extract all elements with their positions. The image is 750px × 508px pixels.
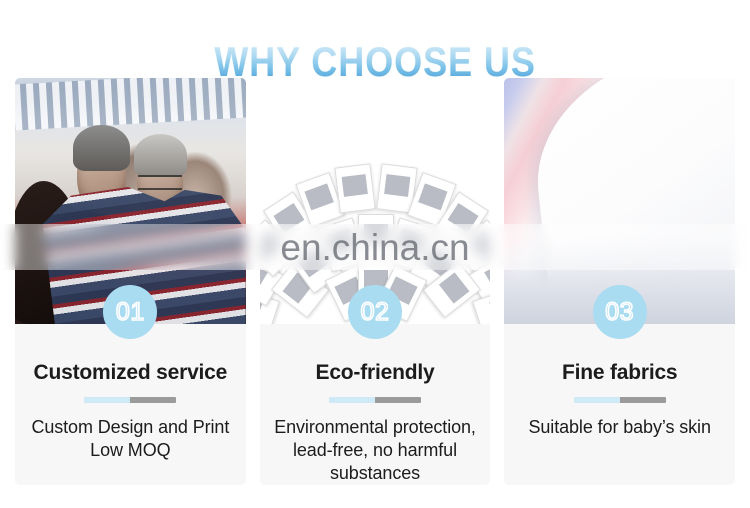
card-divider	[574, 397, 666, 403]
card-body: Fine fabrics Suitable for baby’s skin	[504, 324, 735, 485]
card-divider	[84, 397, 176, 403]
card-description: Suitable for baby’s skin	[528, 416, 710, 439]
card-body: Eco-friendly Environmental protection, l…	[260, 324, 491, 485]
feature-card-eco-friendly[interactable]: 02 Eco-friendly Environmental protection…	[260, 78, 491, 485]
card-number-badge-02: 02	[348, 285, 402, 339]
feature-cards-row: 01 Customized service Custom Design and …	[15, 78, 735, 485]
feature-card-fine-fabrics[interactable]: 03 Fine fabrics Suitable for baby’s skin	[504, 78, 735, 485]
card-number-badge-01: 01	[103, 285, 157, 339]
card-description: Custom Design and Print Low MOQ	[25, 416, 236, 462]
card-description: Environmental protection, lead-free, no …	[270, 416, 481, 485]
feature-card-customized-service[interactable]: 01 Customized service Custom Design and …	[15, 78, 246, 485]
divider-gray-segment	[620, 397, 666, 403]
divider-gray-segment	[375, 397, 421, 403]
divider-blue-segment	[329, 397, 375, 403]
divider-blue-segment	[574, 397, 620, 403]
card-number-badge-03: 03	[593, 285, 647, 339]
card-title: Eco-friendly	[316, 360, 435, 386]
divider-gray-segment	[130, 397, 176, 403]
person-two-icon	[137, 147, 183, 218]
card-title: Fine fabrics	[562, 360, 677, 386]
card-title: Customized service	[34, 360, 228, 386]
divider-blue-segment	[84, 397, 130, 403]
person-foreground-icon	[15, 181, 84, 324]
card-divider	[329, 397, 421, 403]
person-one-icon	[77, 137, 125, 213]
card-body: Customized service Custom Design and Pri…	[15, 324, 246, 485]
